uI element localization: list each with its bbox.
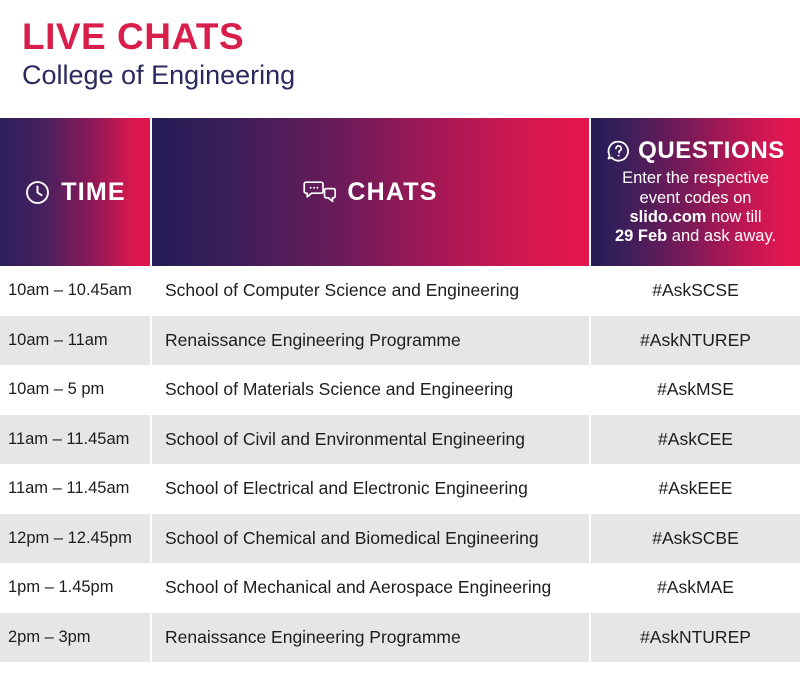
cell-time: 11am – 11.45am bbox=[0, 464, 150, 514]
cell-time: 12pm – 12.45pm bbox=[0, 514, 150, 564]
table-row: 2pm – 3pmRenaissance Engineering Program… bbox=[0, 613, 800, 663]
cell-time: 2pm – 3pm bbox=[0, 613, 150, 663]
table-row: 1pm – 1.45pmSchool of Mechanical and Aer… bbox=[0, 563, 800, 613]
table-row: 11am – 11.45amSchool of Electrical and E… bbox=[0, 464, 800, 514]
cell-time: 10am – 10.45am bbox=[0, 266, 150, 316]
table-header-band: TIME CHATS bbox=[0, 118, 800, 266]
questions-line-1: Enter the respective bbox=[615, 169, 776, 188]
header-column-time: TIME bbox=[0, 118, 150, 266]
page-subtitle: College of Engineering bbox=[22, 61, 800, 91]
cell-event-code: #AskNTUREP bbox=[591, 316, 800, 366]
table-row: 10am – 10.45amSchool of Computer Science… bbox=[0, 266, 800, 316]
question-bubble-icon bbox=[606, 139, 631, 164]
clock-icon bbox=[24, 179, 51, 206]
questions-line-4-rest: and ask away. bbox=[667, 227, 776, 245]
cell-chat: Renaissance Engineering Programme bbox=[152, 316, 589, 366]
table-row: 10am – 5 pmSchool of Materials Science a… bbox=[0, 365, 800, 415]
table-row: 12pm – 12.45pmSchool of Chemical and Bio… bbox=[0, 514, 800, 564]
cell-event-code: #AskMAE bbox=[591, 563, 800, 613]
title-block: LIVE CHATS College of Engineering bbox=[0, 0, 800, 91]
cell-time: 1pm – 1.45pm bbox=[0, 563, 150, 613]
slido-link[interactable]: slido.com bbox=[629, 208, 706, 226]
header-column-chats: CHATS bbox=[152, 118, 589, 266]
table-row: 10am – 11amRenaissance Engineering Progr… bbox=[0, 316, 800, 366]
cell-event-code: #AskNTUREP bbox=[591, 613, 800, 663]
questions-line-3-rest: now till bbox=[706, 208, 761, 226]
cell-chat: School of Materials Science and Engineer… bbox=[152, 365, 589, 415]
questions-line-3: slido.com now till bbox=[615, 208, 776, 227]
header-column-questions: QUESTIONS Enter the respective event cod… bbox=[591, 118, 800, 266]
cell-event-code: #AskCEE bbox=[591, 415, 800, 465]
cell-event-code: #AskEEE bbox=[591, 464, 800, 514]
cell-event-code: #AskSCBE bbox=[591, 514, 800, 564]
questions-instructions: Enter the respective event codes on slid… bbox=[615, 169, 776, 247]
cell-event-code: #AskMSE bbox=[591, 365, 800, 415]
cell-chat: Renaissance Engineering Programme bbox=[152, 613, 589, 663]
table-row: 11am – 11.45amSchool of Civil and Enviro… bbox=[0, 415, 800, 465]
schedule-table: 10am – 10.45amSchool of Computer Science… bbox=[0, 266, 800, 662]
cell-event-code: #AskSCSE bbox=[591, 266, 800, 316]
cell-time: 10am – 11am bbox=[0, 316, 150, 366]
questions-line-4: 29 Feb and ask away. bbox=[615, 227, 776, 246]
cell-chat: School of Civil and Environmental Engine… bbox=[152, 415, 589, 465]
page-title: LIVE CHATS bbox=[22, 18, 800, 57]
header-label-time: TIME bbox=[61, 178, 126, 207]
cell-time: 11am – 11.45am bbox=[0, 415, 150, 465]
live-chats-poster: LIVE CHATS College of Engineering TIME bbox=[0, 0, 800, 677]
header-label-questions: QUESTIONS bbox=[638, 137, 785, 165]
cell-chat: School of Computer Science and Engineeri… bbox=[152, 266, 589, 316]
speech-bubbles-icon bbox=[303, 179, 337, 206]
cell-chat: School of Mechanical and Aerospace Engin… bbox=[152, 563, 589, 613]
deadline-date: 29 Feb bbox=[615, 227, 667, 245]
cell-chat: School of Electrical and Electronic Engi… bbox=[152, 464, 589, 514]
cell-time: 10am – 5 pm bbox=[0, 365, 150, 415]
questions-line-2: event codes on bbox=[615, 189, 776, 208]
cell-chat: School of Chemical and Biomedical Engine… bbox=[152, 514, 589, 564]
header-label-chats: CHATS bbox=[347, 178, 437, 207]
